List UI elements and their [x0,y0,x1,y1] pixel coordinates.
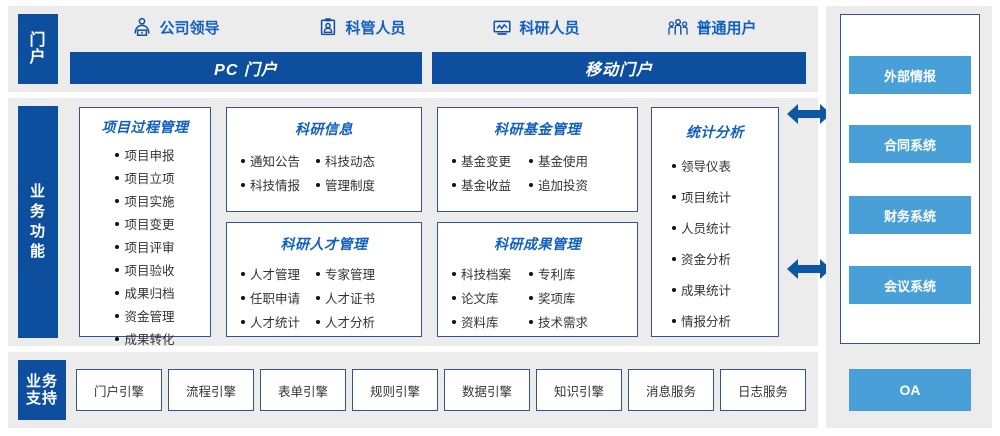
module-bullet-column: 人才管理 任职申请 人才统计 [241,264,300,331]
bullet-item: 科技档案 [452,264,511,283]
module-title: 科研人才管理 [227,234,421,254]
bullet-item: 技术需求 [529,312,588,331]
bullet-item: 项目实施 [115,191,174,210]
bullet-item: 项目立项 [115,168,174,187]
bullet-item: 管理制度 [316,175,375,194]
module-title: 科研基金管理 [438,119,637,139]
portal-label-char-2: 户 [29,49,46,66]
role-researcher[interactable]: 科研人员 [446,12,626,42]
bullet-item: 项目申报 [115,145,174,164]
bullet-item: 基金收益 [452,175,511,194]
module-bullet-column: 专家管理 人才证书 人才分析 [316,264,375,331]
module-bullet-column: 项目申报 项目立项 项目实施 项目变更 项目评审 项目验收 成果归档 资金管理 … [115,145,174,348]
business-function-row-label: 业 务 功 能 [18,106,58,338]
business-support-row-label: 业务 支持 [18,360,66,420]
bullet-item: 领导仪表 [672,156,731,175]
bullet-item: 成果归档 [115,283,174,302]
bullet-item: 项目评审 [115,237,174,256]
architecture-diagram: 门 户 公司领导 科管人员 [0,0,1000,436]
module-title: 科研成果管理 [438,234,637,254]
bullet-item: 项目验收 [115,260,174,279]
role-label: 普通用户 [696,17,756,38]
module-bullet-column: 基金使用 追加投资 [529,151,588,194]
monitor-chart-icon [492,17,512,37]
bullet-item: 专家管理 [316,264,375,283]
portal-row-label: 门 户 [18,14,58,84]
bullet-item: 资金分析 [672,249,731,268]
person-podium-icon [132,17,152,37]
role-research-admin[interactable]: 科管人员 [272,12,452,42]
module-title: 项目过程管理 [80,117,210,137]
bullet-item: 奖项库 [529,288,588,307]
bullet-item: 论文库 [452,288,511,307]
module-bullet-column: 基金变更 基金收益 [452,151,511,194]
module-bullet-column: 科技档案 论文库 资料库 [452,264,511,331]
external-system-intelligence[interactable]: 外部情报 [849,56,971,94]
role-label: 科管人员 [345,17,405,38]
func-label-char-2: 务 [30,202,46,222]
support-label-line-2: 支持 [26,390,58,407]
role-general-user[interactable]: 普通用户 [622,12,802,42]
bullet-item: 基金变更 [452,151,511,170]
bullet-item: 通知公告 [241,151,300,170]
module-box-research-talent[interactable]: 科研人才管理 人才管理 任职申请 人才统计 专家管理 人才证书 人才分析 [226,222,422,337]
service-log[interactable]: 日志服务 [720,369,806,411]
bullet-item: 专利库 [529,264,588,283]
portal-bar-pc[interactable]: PC 门户 [70,52,422,84]
support-label-line-1: 业务 [26,373,58,390]
module-box-research-info[interactable]: 科研信息 通知公告 科技情报 科技动态 管理制度 [226,107,422,212]
module-bullet-column: 领导仪表 项目统计 人员统计 资金分析 成果统计 情报分析 [672,156,731,330]
engine-portal[interactable]: 门户引擎 [76,369,162,411]
role-company-leader[interactable]: 公司领导 [86,12,266,42]
bullet-item: 成果统计 [672,280,731,299]
func-label-char-1: 业 [30,182,46,202]
portal-label-char-1: 门 [29,32,46,49]
bullet-item: 情报分析 [672,311,731,330]
module-title: 科研信息 [227,119,421,139]
bullet-item: 任职申请 [241,288,300,307]
external-system-finance[interactable]: 财务系统 [849,196,971,234]
module-bullet-column: 通知公告 科技情报 [241,151,300,194]
engine-data[interactable]: 数据引擎 [444,369,530,411]
bullet-item: 人才统计 [241,312,300,331]
service-message[interactable]: 消息服务 [628,369,714,411]
module-bullet-column: 科技动态 管理制度 [316,151,375,194]
module-title: 统计分析 [652,122,778,142]
module-box-research-achievement[interactable]: 科研成果管理 科技档案 论文库 资料库 专利库 奖项库 技术需求 [437,222,638,337]
bullet-item: 成果转化 [115,329,174,348]
bullet-item: 科技动态 [316,151,375,170]
func-label-char-3: 功 [30,222,46,242]
engine-workflow[interactable]: 流程引擎 [168,369,254,411]
role-label: 科研人员 [519,17,579,38]
role-label: 公司领导 [159,17,219,38]
module-box-statistics[interactable]: 统计分析 领导仪表 项目统计 人员统计 资金分析 成果统计 情报分析 [651,107,779,337]
module-box-project-process[interactable]: 项目过程管理 项目申报 项目立项 项目实施 项目变更 项目评审 项目验收 成果归… [79,107,211,337]
id-clipboard-icon [318,17,338,37]
external-system-contract[interactable]: 合同系统 [849,125,971,163]
bullet-item: 资料库 [452,312,511,331]
external-system-meeting[interactable]: 会议系统 [849,266,971,304]
bullet-item: 人才管理 [241,264,300,283]
people-group-icon [667,17,689,37]
engine-knowledge[interactable]: 知识引擎 [536,369,622,411]
bullet-item: 项目统计 [672,187,731,206]
bullet-item: 项目变更 [115,214,174,233]
bullet-item: 资金管理 [115,306,174,325]
bullet-item: 人才证书 [316,288,375,307]
bullet-item: 科技情报 [241,175,300,194]
portal-bar-mobile[interactable]: 移动门户 [432,52,806,84]
bullet-item: 人才分析 [316,312,375,331]
engine-rule[interactable]: 规则引擎 [352,369,438,411]
external-system-oa[interactable]: OA [849,369,971,411]
bullet-item: 人员统计 [672,218,731,237]
func-label-char-4: 能 [30,242,46,262]
module-bullet-column: 专利库 奖项库 技术需求 [529,264,588,331]
module-box-research-fund[interactable]: 科研基金管理 基金变更 基金收益 基金使用 追加投资 [437,107,638,212]
engine-form[interactable]: 表单引擎 [260,369,346,411]
bullet-item: 追加投资 [529,175,588,194]
bullet-item: 基金使用 [529,151,588,170]
